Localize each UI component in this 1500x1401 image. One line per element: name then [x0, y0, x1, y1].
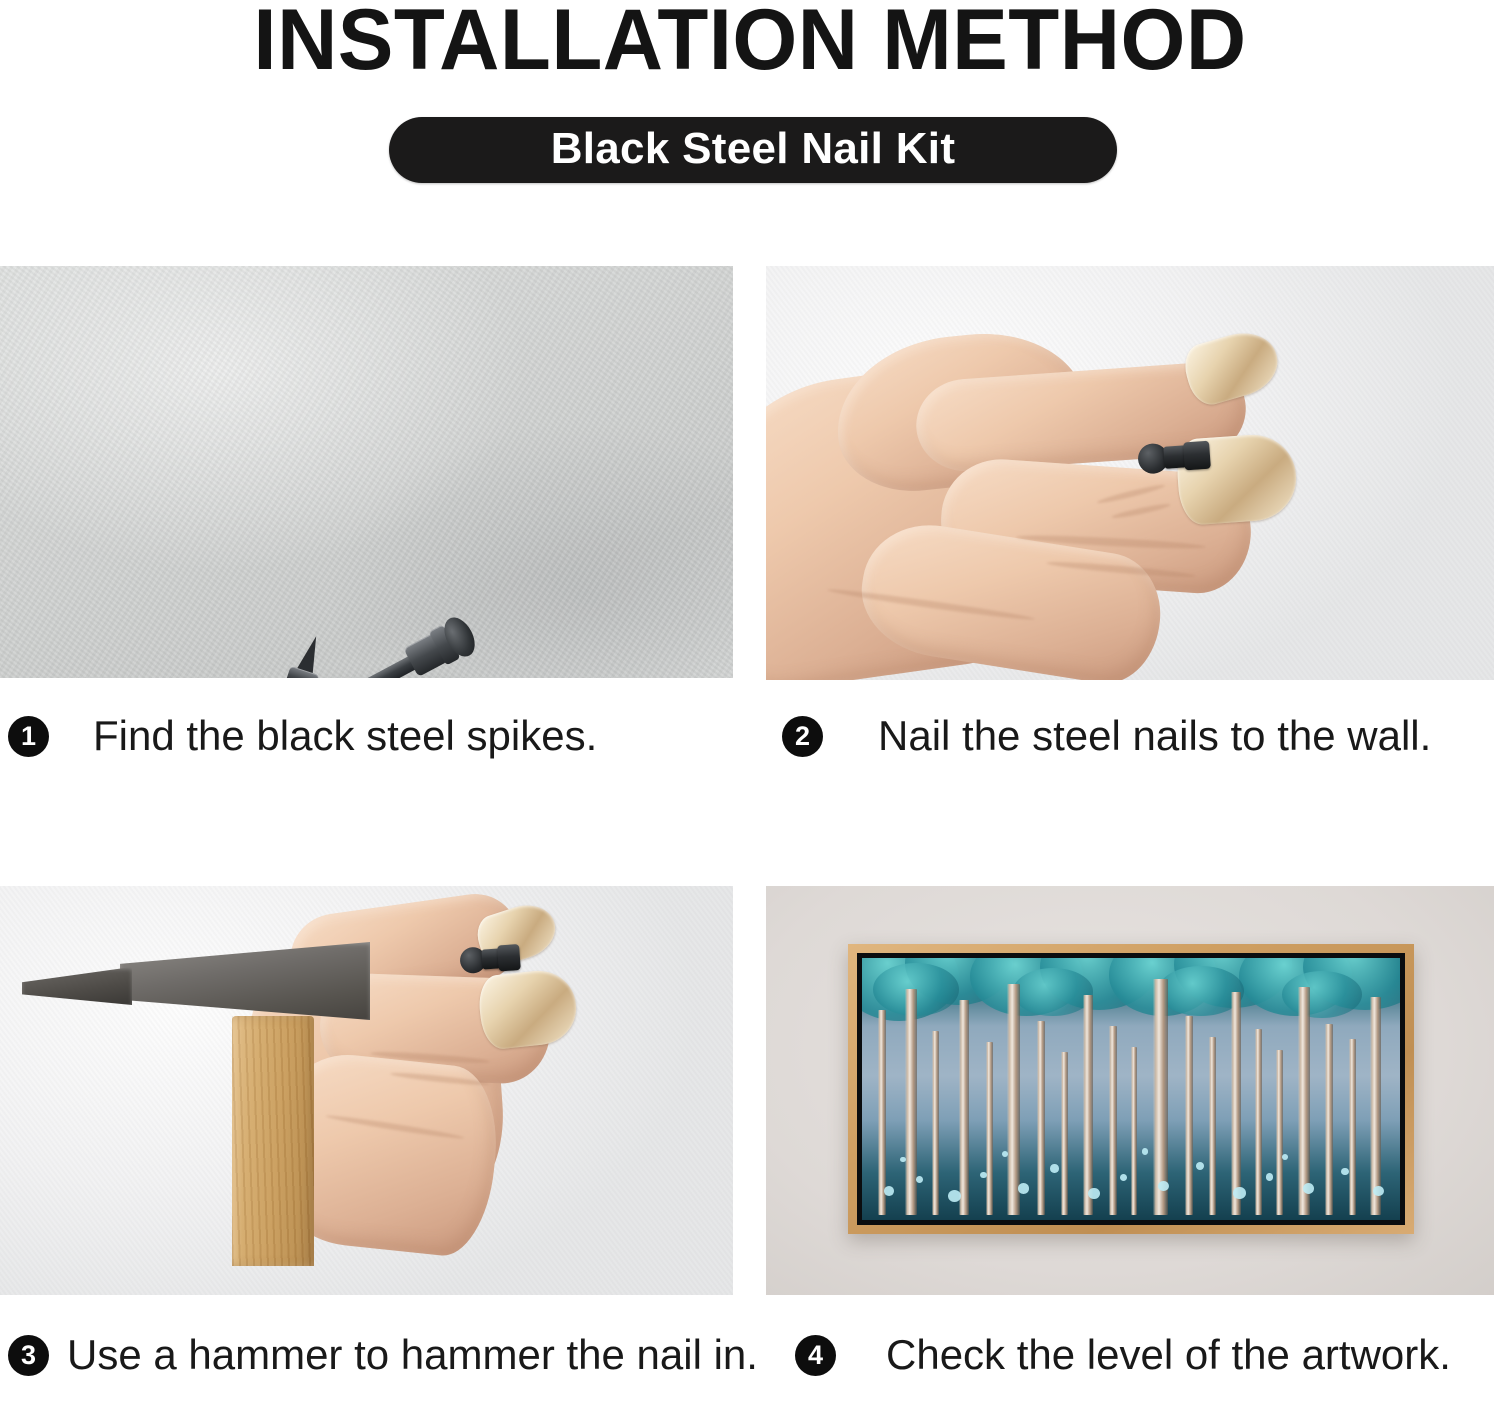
step-2-image	[766, 266, 1494, 680]
step-1-image	[0, 266, 733, 678]
step-2-caption: 2 Nail the steel nails to the wall.	[782, 706, 1431, 766]
step-3-caption: 3 Use a hammer to hammer the nail in.	[8, 1325, 758, 1385]
step-caption-text: Use a hammer to hammer the nail in.	[67, 1330, 758, 1380]
hammer-handle	[232, 1016, 314, 1266]
step-caption-text: Nail the steel nails to the wall.	[878, 711, 1431, 761]
hammer-peen	[22, 967, 132, 1005]
header: INSTALLATION METHOD Black Steel Nail Kit	[0, 0, 1500, 250]
subtitle-badge-label: Black Steel Nail Kit	[389, 117, 1117, 183]
step-caption-text: Check the level of the artwork.	[886, 1330, 1451, 1380]
step-badge-2: 2	[782, 716, 823, 757]
step-badge-1: 1	[8, 716, 49, 757]
hammer	[10, 934, 410, 1264]
step-1-caption: 1 Find the black steel spikes.	[8, 706, 597, 766]
fingernail	[476, 967, 579, 1051]
step-4-caption: 4 Check the level of the artwork.	[795, 1325, 1451, 1385]
artwork-float-gap	[857, 953, 1405, 1225]
page-title: INSTALLATION METHOD	[23, 0, 1478, 86]
step-badge-3: 3	[8, 1335, 49, 1376]
step-4-image	[766, 886, 1494, 1295]
step-3-image	[0, 886, 733, 1295]
steel-nail	[459, 942, 523, 976]
step-caption-text: Find the black steel spikes.	[93, 711, 597, 761]
concrete-background	[0, 266, 733, 678]
artwork-canvas	[862, 958, 1400, 1220]
hand	[766, 316, 1326, 680]
subtitle-badge: Black Steel Nail Kit	[389, 117, 1117, 183]
steel-nail	[1137, 437, 1215, 476]
step-badge-4: 4	[795, 1335, 836, 1376]
framed-artwork	[848, 944, 1414, 1234]
hammer-head	[120, 942, 370, 1020]
